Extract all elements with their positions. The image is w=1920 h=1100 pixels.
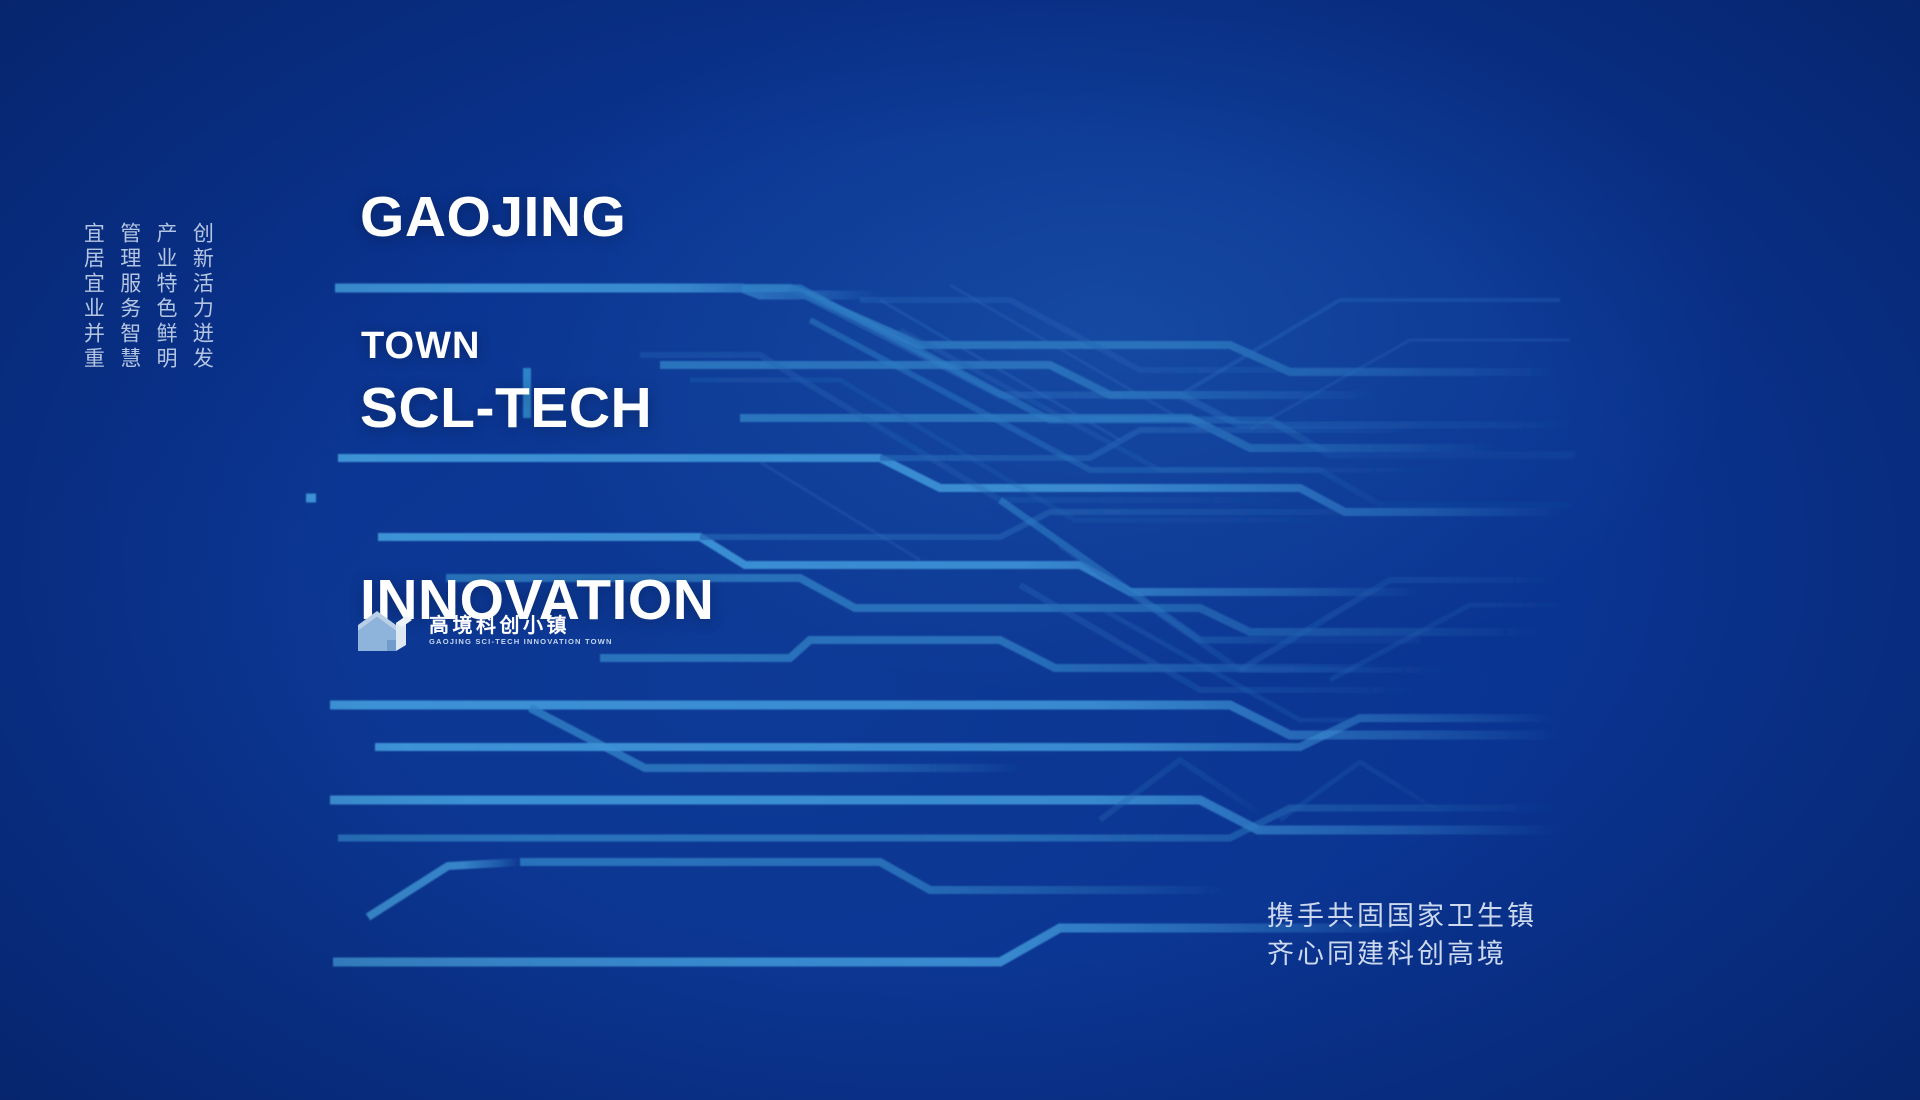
vertical-slogan-column-1: 创新活力迸发 xyxy=(187,222,215,372)
vertical-slogan: 创新活力迸发 产业特色鲜明 管理服务智慧 宜居宜业并重 xyxy=(78,222,215,372)
poster-canvas: 创新活力迸发 产业特色鲜明 管理服务智慧 宜居宜业并重 GAOJING SCL-… xyxy=(0,0,1920,1100)
page-title: GAOJING SCL-TECH INNOVATION xyxy=(360,58,714,760)
headline-line-1: GAOJING xyxy=(360,186,714,250)
brand-logo: 高境科创小镇 GAOJING SCI-TECH INNOVATION TOWN xyxy=(356,609,613,653)
bottom-slogan-line-1: 携手共固国家卫生镇 xyxy=(1267,897,1537,935)
circuit-line-pattern xyxy=(0,0,1920,1100)
headline-line-4: TOWN xyxy=(361,325,480,368)
vertical-slogan-column-2: 产业特色鲜明 xyxy=(151,222,179,372)
background-vignette xyxy=(0,0,1920,1100)
logo-name-cn: 高境科创小镇 xyxy=(429,616,613,636)
bottom-slogan: 携手共固国家卫生镇 齐心同建科创高境 xyxy=(1267,897,1537,974)
background-glow xyxy=(0,0,1920,1100)
vertical-slogan-column-3: 管理服务智慧 xyxy=(114,222,142,372)
vertical-slogan-column-4: 宜居宜业并重 xyxy=(78,222,106,372)
logo-name-en: GAOJING SCI-TECH INNOVATION TOWN xyxy=(429,638,613,646)
bottom-slogan-line-2: 齐心同建科创高境 xyxy=(1267,935,1537,973)
house-icon xyxy=(356,609,418,653)
headline-line-2: SCL-TECH xyxy=(360,377,714,441)
logo-text-block: 高境科创小镇 GAOJING SCI-TECH INNOVATION TOWN xyxy=(429,616,613,646)
